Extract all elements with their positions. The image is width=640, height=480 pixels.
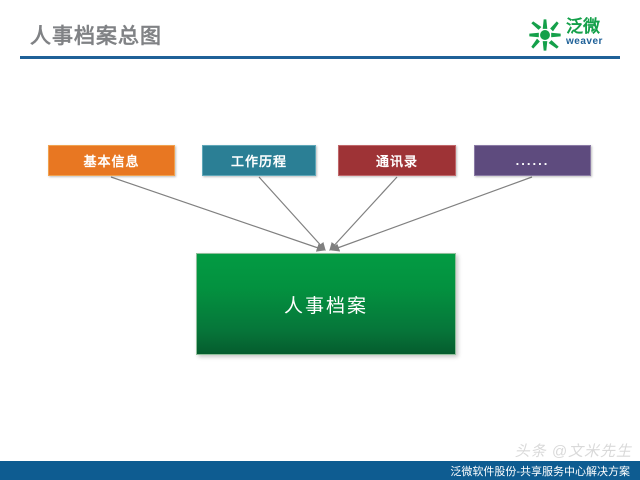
watermark-text: 头条 @文米先生 — [515, 440, 632, 461]
arrow-work-history-to-core — [259, 177, 325, 250]
footer-bar: 泛微软件股份-共享服务中心解决方案 — [0, 461, 640, 480]
logo-wordmark: 泛微 weaver — [566, 17, 622, 47]
slide-canvas: 人事档案总图 泛微 weaver — [0, 0, 640, 480]
category-box-ellipsis[interactable]: ...... — [474, 145, 591, 176]
arrow-ellipsis-to-core — [332, 177, 532, 250]
brand-logo: 泛微 weaver — [526, 16, 622, 54]
logo-chinese-name: 泛微 — [566, 17, 622, 36]
category-label: 通讯录 — [376, 151, 418, 170]
category-box-contacts[interactable]: 通讯录 — [338, 145, 456, 176]
connector-arrows — [0, 0, 640, 480]
logo-english-name: weaver — [566, 36, 622, 47]
category-label: 基本信息 — [83, 151, 139, 170]
footer-text: 泛微软件股份-共享服务中心解决方案 — [450, 463, 630, 479]
category-label: ...... — [516, 153, 550, 168]
arrow-basic-info-to-core — [111, 177, 324, 250]
category-box-basic-info[interactable]: 基本信息 — [48, 145, 175, 176]
core-box-personnel-file[interactable]: 人事档案 — [196, 253, 456, 355]
snowflake-icon — [526, 16, 564, 54]
category-box-work-history[interactable]: 工作历程 — [202, 145, 316, 176]
title-divider — [20, 56, 620, 59]
page-title: 人事档案总图 — [30, 20, 162, 50]
category-label: 工作历程 — [231, 151, 287, 170]
core-box-label: 人事档案 — [284, 291, 368, 318]
arrow-contacts-to-core — [330, 177, 397, 250]
